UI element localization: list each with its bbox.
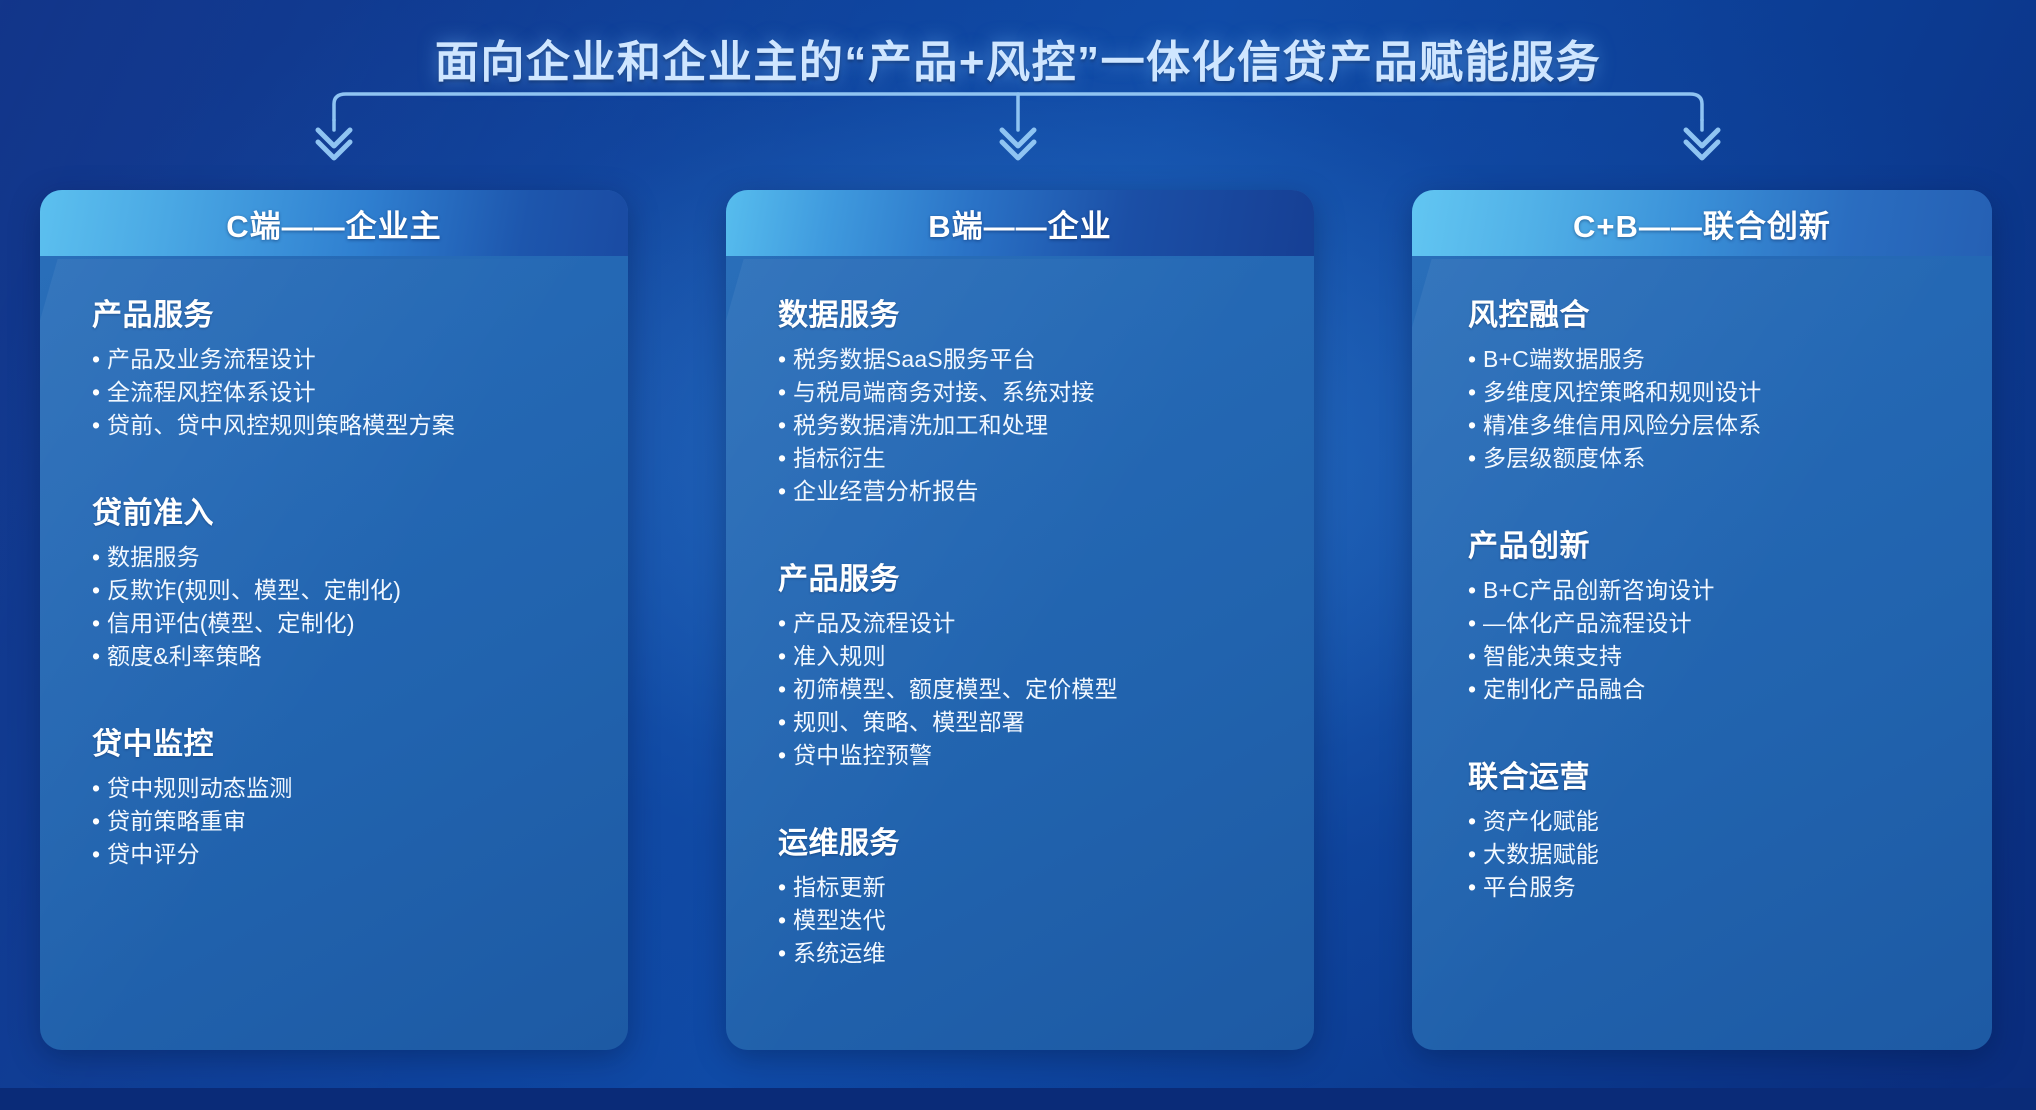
- list-item: 反欺诈(规则、模型、定制化): [92, 574, 606, 607]
- card-content-c-plus-b: 风控融合 B+C端数据服务 多维度风控策略和规则设计 精准多维信用风险分层体系 …: [1412, 256, 1992, 1050]
- bullet-list: 产品及业务流程设计 全流程风控体系设计 贷前、贷中风控规则策略模型方案: [92, 343, 606, 442]
- bullet-list: B+C产品创新咨询设计 —体化产品流程设计 智能决策支持 定制化产品融合: [1468, 574, 1970, 706]
- cards-row: C端——企业主 产品服务 产品及业务流程设计 全流程风控体系设计 贷前、贷中风控…: [40, 190, 1996, 1050]
- list-item: 贷中评分: [92, 838, 606, 871]
- list-item: 初筛模型、额度模型、定价模型: [778, 673, 1292, 706]
- spacer: [92, 699, 606, 719]
- list-item: 产品及流程设计: [778, 607, 1292, 640]
- list-item: B+C端数据服务: [1468, 343, 1970, 376]
- section-block: 运维服务 指标更新 模型迭代 系统运维: [778, 818, 1292, 970]
- bullet-list: 资产化赋能 大数据赋能 平台服务: [1468, 805, 1970, 904]
- list-item: 多层级额度体系: [1468, 442, 1970, 475]
- section-block: 贷前准入 数据服务 反欺诈(规则、模型、定制化) 信用评估(模型、定制化) 额度…: [92, 488, 606, 673]
- bullet-list: 指标更新 模型迭代 系统运维: [778, 871, 1292, 970]
- section-title: 贷前准入: [92, 488, 606, 532]
- section-title: 联合运营: [1468, 752, 1970, 796]
- down-arrow-icon-1: [318, 130, 350, 146]
- section-title: 运维服务: [778, 818, 1292, 862]
- bracket-connector: [0, 86, 2036, 166]
- list-item: 贷前、贷中风控规则策略模型方案: [92, 409, 606, 442]
- list-item: 规则、策略、模型部署: [778, 706, 1292, 739]
- card-c-duan[interactable]: C端——企业主 产品服务 产品及业务流程设计 全流程风控体系设计 贷前、贷中风控…: [40, 190, 628, 1050]
- card-header-b-duan: B端——企业: [726, 190, 1314, 256]
- section-title: 风控融合: [1468, 290, 1970, 334]
- list-item: 全流程风控体系设计: [92, 376, 606, 409]
- section-title: 产品服务: [778, 554, 1292, 598]
- card-b-duan[interactable]: B端——企业 数据服务 税务数据SaaS服务平台 与税局端商务对接、系统对接 税…: [726, 190, 1314, 1050]
- spacer: [778, 798, 1292, 818]
- list-item: 指标更新: [778, 871, 1292, 904]
- section-title: 产品服务: [92, 290, 606, 334]
- card-content-b-duan: 数据服务 税务数据SaaS服务平台 与税局端商务对接、系统对接 税务数据清洗加工…: [726, 256, 1314, 1050]
- bullet-list: B+C端数据服务 多维度风控策略和规则设计 精准多维信用风险分层体系 多层级额度…: [1468, 343, 1970, 475]
- list-item: B+C产品创新咨询设计: [1468, 574, 1970, 607]
- list-item: 产品及业务流程设计: [92, 343, 606, 376]
- section-title: 贷中监控: [92, 719, 606, 763]
- list-item: 准入规则: [778, 640, 1292, 673]
- spacer: [92, 468, 606, 488]
- list-item: 定制化产品融合: [1468, 673, 1970, 706]
- list-item: 平台服务: [1468, 871, 1970, 904]
- card-header-c-duan: C端——企业主: [40, 190, 628, 256]
- list-item: 大数据赋能: [1468, 838, 1970, 871]
- down-arrow-icon-2: [1002, 130, 1034, 146]
- bullet-list: 数据服务 反欺诈(规则、模型、定制化) 信用评估(模型、定制化) 额度&利率策略: [92, 541, 606, 673]
- spacer: [1468, 501, 1970, 521]
- section-block: 产品服务 产品及业务流程设计 全流程风控体系设计 贷前、贷中风控规则策略模型方案: [92, 290, 606, 442]
- spacer: [778, 534, 1292, 554]
- section-block: 贷中监控 贷中规则动态监测 贷前策略重审 贷中评分: [92, 719, 606, 871]
- list-item: 指标衍生: [778, 442, 1292, 475]
- list-item: 精准多维信用风险分层体系: [1468, 409, 1970, 442]
- section-block: 产品服务 产品及流程设计 准入规则 初筛模型、额度模型、定价模型 规则、策略、模…: [778, 554, 1292, 772]
- section-block: 产品创新 B+C产品创新咨询设计 —体化产品流程设计 智能决策支持 定制化产品融…: [1468, 521, 1970, 706]
- list-item: 贷前策略重审: [92, 805, 606, 838]
- list-item: 企业经营分析报告: [778, 475, 1292, 508]
- list-item: —体化产品流程设计: [1468, 607, 1970, 640]
- slide-canvas: 面向企业和企业主的“产品+风控”一体化信贷产品赋能服务 C端——企业主 产品服务: [0, 0, 2036, 1110]
- list-item: 税务数据SaaS服务平台: [778, 343, 1292, 376]
- list-item: 贷中规则动态监测: [92, 772, 606, 805]
- list-item: 多维度风控策略和规则设计: [1468, 376, 1970, 409]
- list-item: 数据服务: [92, 541, 606, 574]
- list-item: 模型迭代: [778, 904, 1292, 937]
- section-title: 产品创新: [1468, 521, 1970, 565]
- section-block: 数据服务 税务数据SaaS服务平台 与税局端商务对接、系统对接 税务数据清洗加工…: [778, 290, 1292, 508]
- card-c-plus-b[interactable]: C+B——联合创新 风控融合 B+C端数据服务 多维度风控策略和规则设计 精准多…: [1412, 190, 1992, 1050]
- section-block: 风控融合 B+C端数据服务 多维度风控策略和规则设计 精准多维信用风险分层体系 …: [1468, 290, 1970, 475]
- list-item: 系统运维: [778, 937, 1292, 970]
- section-title: 数据服务: [778, 290, 1292, 334]
- list-item: 与税局端商务对接、系统对接: [778, 376, 1292, 409]
- spacer: [1468, 732, 1970, 752]
- list-item: 贷中监控预警: [778, 739, 1292, 772]
- list-item: 资产化赋能: [1468, 805, 1970, 838]
- section-block: 联合运营 资产化赋能 大数据赋能 平台服务: [1468, 752, 1970, 904]
- card-content-c-duan: 产品服务 产品及业务流程设计 全流程风控体系设计 贷前、贷中风控规则策略模型方案…: [40, 256, 628, 1050]
- page-title: 面向企业和企业主的“产品+风控”一体化信贷产品赋能服务: [0, 26, 2036, 90]
- bullet-list: 产品及流程设计 准入规则 初筛模型、额度模型、定价模型 规则、策略、模型部署 贷…: [778, 607, 1292, 772]
- bullet-list: 贷中规则动态监测 贷前策略重审 贷中评分: [92, 772, 606, 871]
- list-item: 额度&利率策略: [92, 640, 606, 673]
- list-item: 智能决策支持: [1468, 640, 1970, 673]
- list-item: 信用评估(模型、定制化): [92, 607, 606, 640]
- list-item: 税务数据清洗加工和处理: [778, 409, 1292, 442]
- down-arrow-icon-3: [1686, 130, 1718, 146]
- card-header-c-plus-b: C+B——联合创新: [1412, 190, 1992, 256]
- bullet-list: 税务数据SaaS服务平台 与税局端商务对接、系统对接 税务数据清洗加工和处理 指…: [778, 343, 1292, 508]
